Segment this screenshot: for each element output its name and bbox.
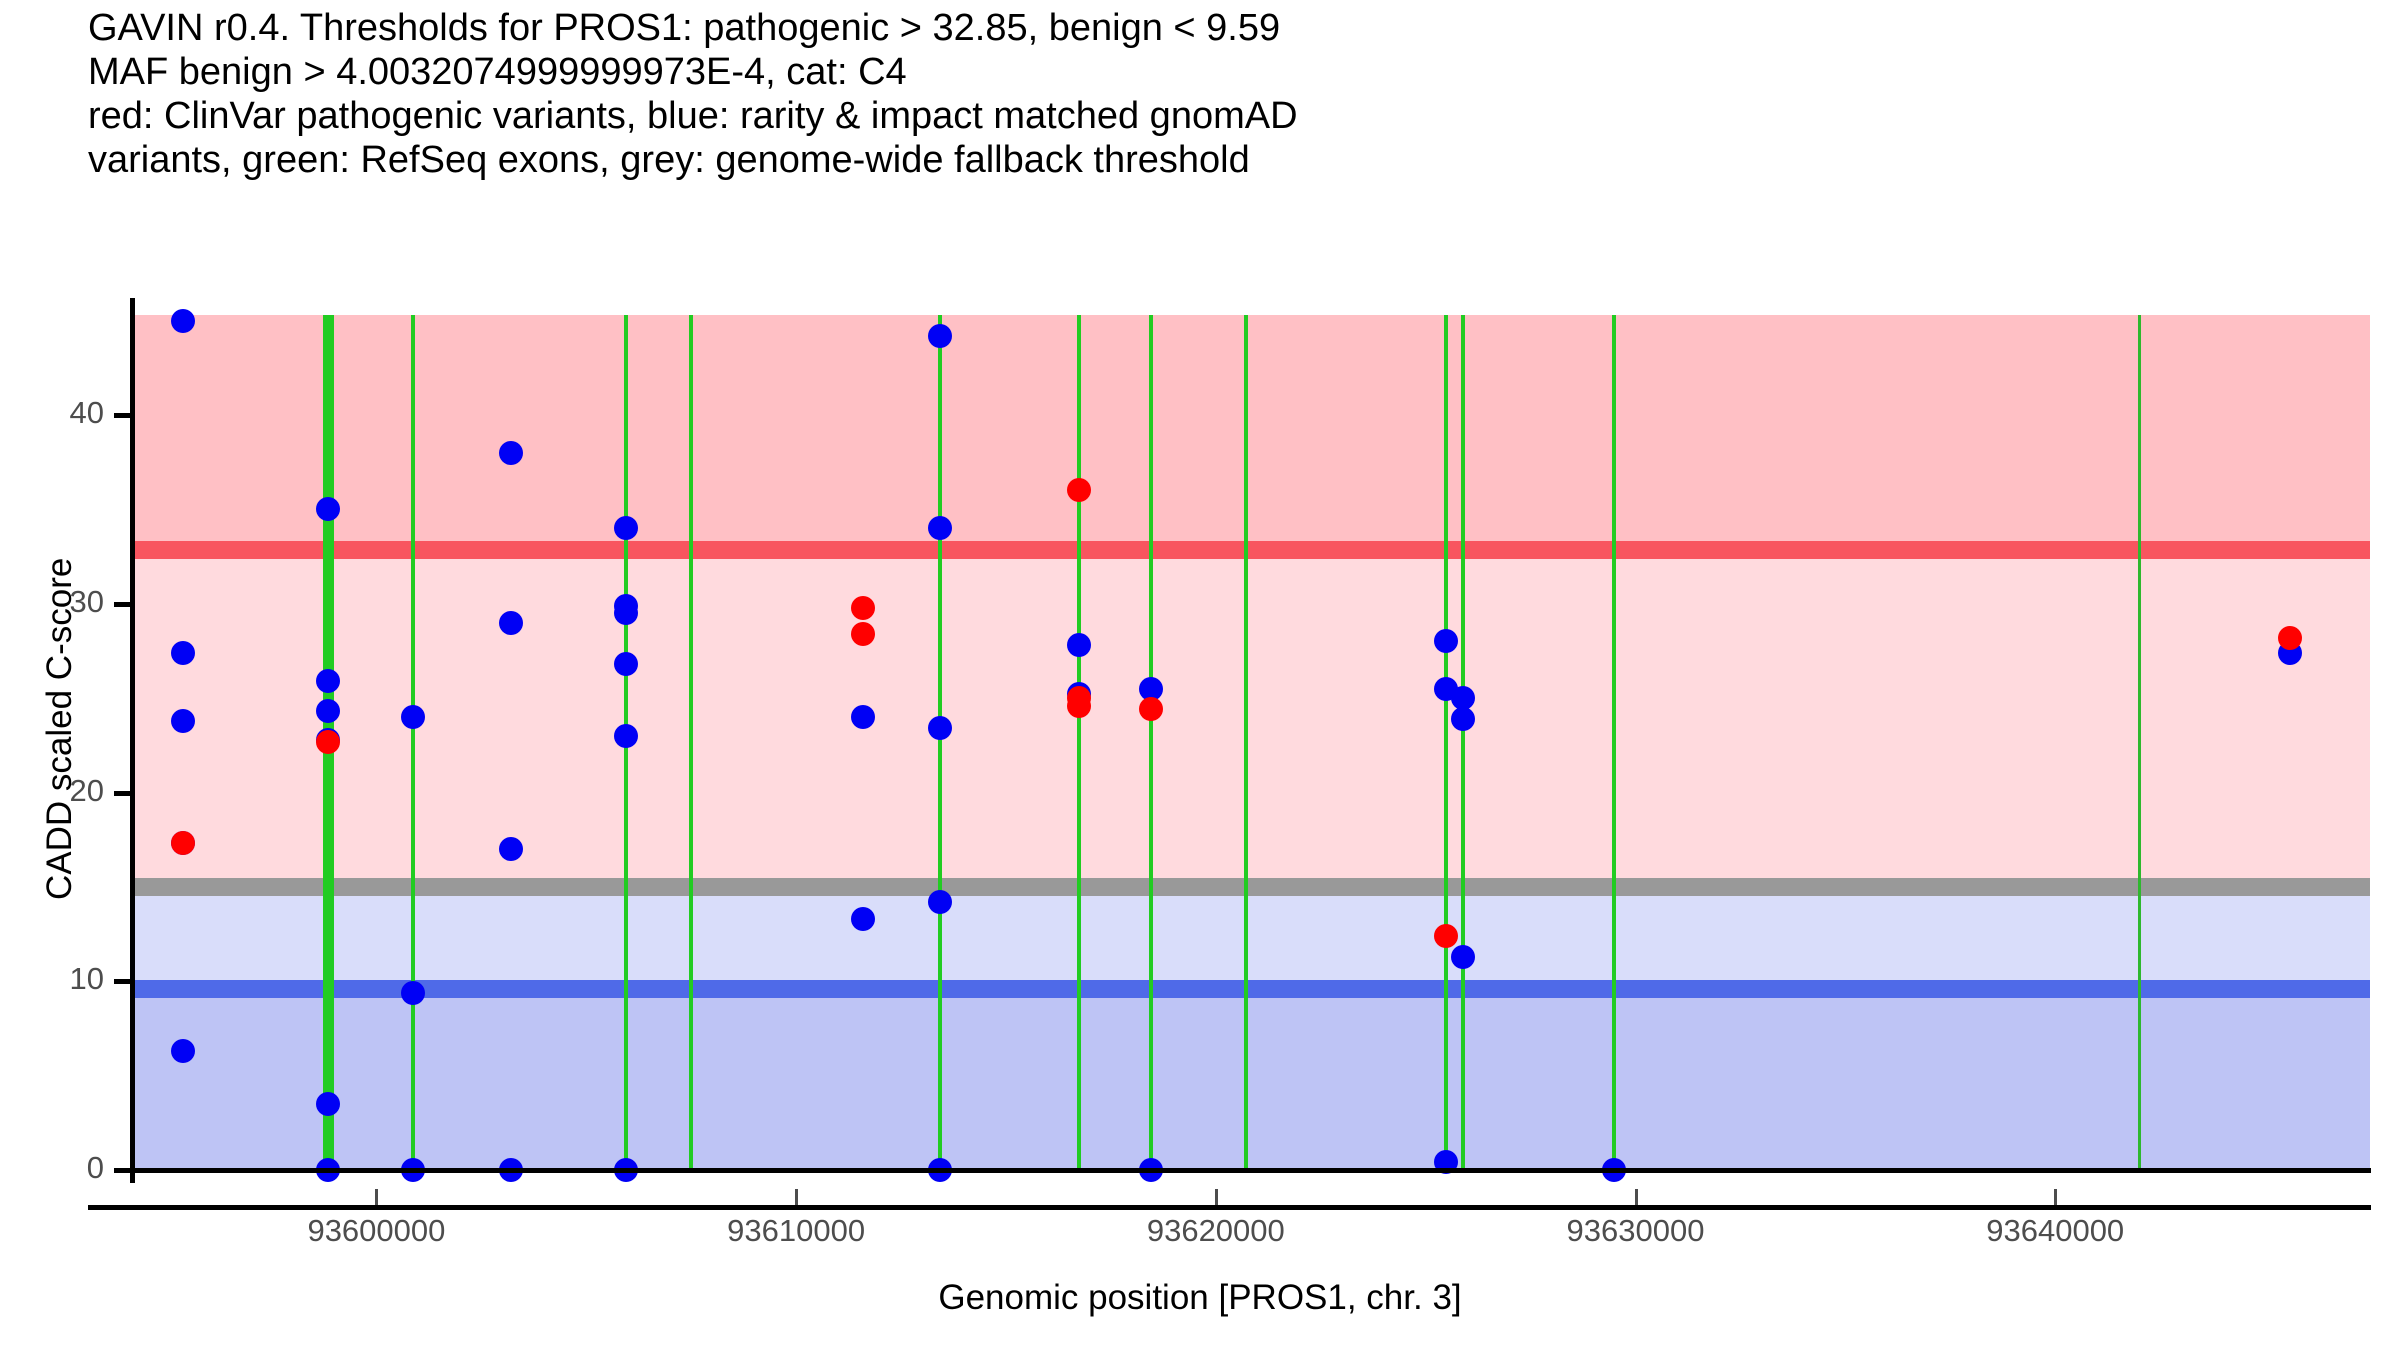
exon-line	[1444, 315, 1448, 1170]
y-axis-title: CADD scaled C-score	[40, 558, 80, 900]
title-line-2: MAF benign > 4.0032074999999973E-4, cat:…	[88, 50, 2348, 94]
data-point	[928, 890, 952, 914]
data-point	[928, 324, 952, 348]
exon-line	[1461, 315, 1465, 1170]
title-line-3: red: ClinVar pathogenic variants, blue: …	[88, 94, 2348, 138]
y-tick-label: 40	[14, 395, 104, 431]
data-point	[2278, 626, 2302, 650]
chart-page: GAVIN r0.4. Thresholds for PROS1: pathog…	[0, 0, 2400, 1350]
exon-line	[1612, 315, 1616, 1170]
x-tick	[795, 1189, 798, 1205]
threshold-line-genome-wide-fallback	[133, 878, 2370, 896]
benign-band	[133, 989, 2370, 1170]
vous-band	[133, 550, 2370, 887]
plot-area	[133, 315, 2370, 1170]
data-point	[499, 837, 523, 861]
x-tick-label: 93630000	[1506, 1213, 1766, 1249]
x-tick-label: 93600000	[246, 1213, 506, 1249]
x-tick-label: 93620000	[1086, 1213, 1346, 1249]
exon-line	[411, 315, 415, 1170]
x-tick-label: 93610000	[666, 1213, 926, 1249]
y-axis-line	[130, 298, 135, 1183]
x-tick-label: 93640000	[1925, 1213, 2185, 1249]
data-point	[1434, 924, 1458, 948]
benign-upper-band	[133, 887, 2370, 989]
x-tick	[375, 1189, 378, 1205]
exon-line	[1244, 315, 1248, 1170]
x-tick	[1635, 1189, 1638, 1205]
x-axis-line	[131, 1168, 2371, 1173]
data-point	[1451, 707, 1475, 731]
title-line-1: GAVIN r0.4. Thresholds for PROS1: pathog…	[88, 6, 2348, 50]
threshold-line-benign	[133, 980, 2370, 998]
exon-line	[1149, 315, 1153, 1170]
data-point	[316, 730, 340, 754]
y-tick	[114, 602, 130, 607]
exon-line	[2138, 315, 2141, 1170]
exon-line	[938, 315, 942, 1170]
chart-title-block: GAVIN r0.4. Thresholds for PROS1: pathog…	[88, 6, 2348, 182]
data-point	[316, 1092, 340, 1116]
y-tick-label: 0	[14, 1150, 104, 1186]
y-tick	[114, 1168, 130, 1173]
data-point	[171, 641, 195, 665]
x-axis-title: Genomic position [PROS1, chr. 3]	[0, 1278, 2400, 1318]
title-line-4: variants, green: RefSeq exons, grey: gen…	[88, 138, 2348, 182]
data-point	[851, 596, 875, 620]
x-tick	[1215, 1189, 1218, 1205]
x-axis-outer-line	[88, 1205, 2371, 1210]
data-point	[171, 309, 195, 333]
y-tick	[114, 979, 130, 984]
exon-line	[1077, 315, 1081, 1170]
data-point	[171, 709, 195, 733]
data-point	[1067, 694, 1091, 718]
data-point	[1451, 945, 1475, 969]
data-point	[499, 611, 523, 635]
data-point	[401, 981, 425, 1005]
x-tick	[2054, 1189, 2057, 1205]
y-tick	[114, 413, 130, 418]
data-point	[499, 441, 523, 465]
y-tick-label: 10	[14, 961, 104, 997]
data-point	[614, 724, 638, 748]
threshold-line-pathogenic	[133, 541, 2370, 559]
y-tick	[114, 791, 130, 796]
exon-line	[689, 315, 693, 1170]
pathogenic-band	[133, 315, 2370, 550]
